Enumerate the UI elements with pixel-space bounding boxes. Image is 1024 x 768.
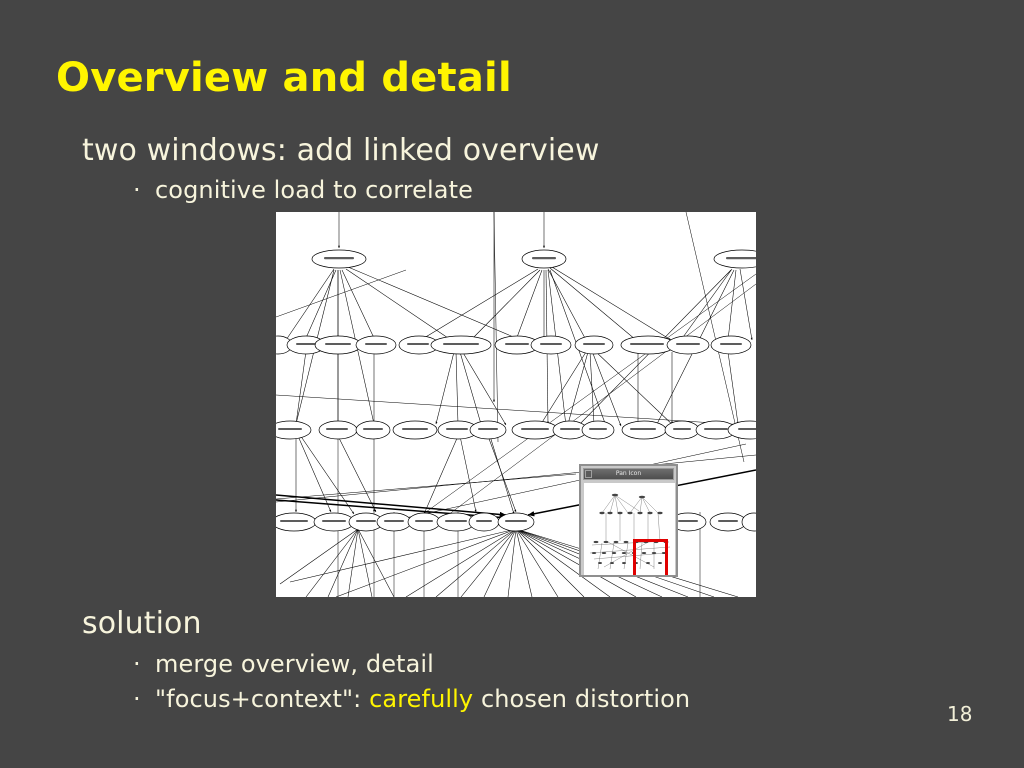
overview-canvas[interactable] — [584, 483, 675, 575]
slide-canvas: Overview and detail two windows: add lin… — [0, 0, 1024, 768]
bullet-solution: solution — [82, 606, 202, 641]
bullet-two-windows: two windows: add linked overview — [82, 133, 600, 168]
bullet-merge-label: merge overview, detail — [155, 650, 434, 678]
focus-context-prefix: "focus+context": — [155, 685, 369, 713]
bullet-dot-icon: · — [133, 685, 155, 713]
overview-window[interactable]: Pan Icon — [579, 464, 678, 577]
page-title: Overview and detail — [56, 55, 512, 101]
overview-window-titlebar[interactable]: Pan Icon — [583, 468, 674, 480]
page-number: 18 — [947, 702, 972, 726]
figure-graph-screenshot: Pan Icon — [276, 212, 756, 597]
bullet-dot-icon: · — [133, 650, 155, 678]
focus-context-suffix: chosen distortion — [473, 685, 690, 713]
overview-window-title: Pan Icon — [584, 469, 673, 479]
focus-context-highlight: carefully — [369, 685, 473, 713]
bullet-dot-icon: · — [133, 176, 155, 204]
bullet-cognitive-load: ·cognitive load to correlate — [133, 176, 473, 204]
bullet-cognitive-load-label: cognitive load to correlate — [155, 176, 473, 204]
bullet-focus-context: ·"focus+context": carefully chosen disto… — [133, 685, 690, 713]
node-link-graph — [276, 212, 756, 597]
overview-viewport-rectangle[interactable] — [633, 539, 668, 575]
bullet-merge-overview-detail: ·merge overview, detail — [133, 650, 434, 678]
